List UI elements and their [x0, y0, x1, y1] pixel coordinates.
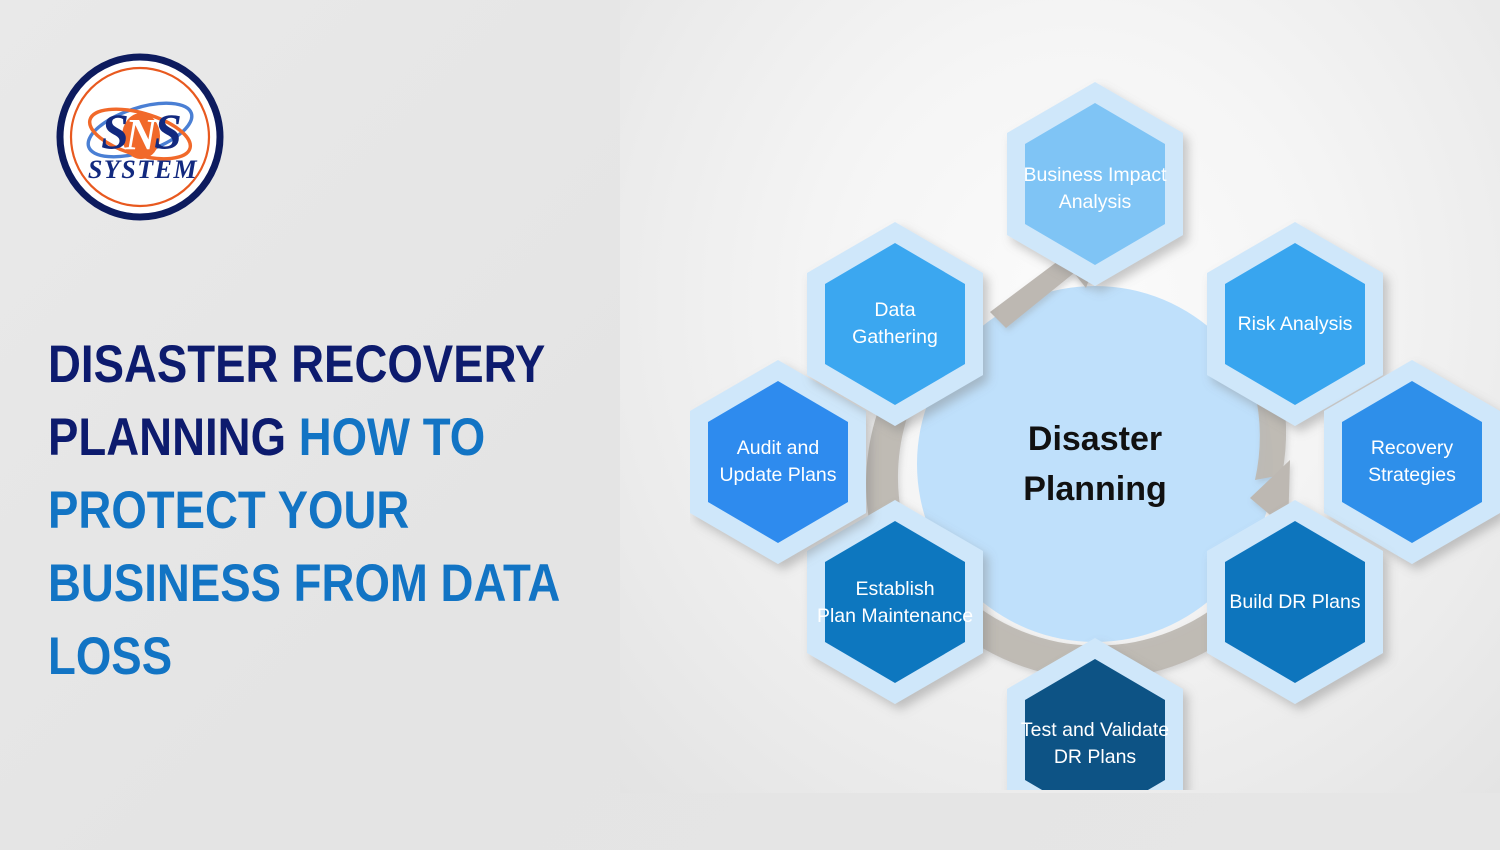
page-title: DISASTER RECOVERY PLANNING HOW TO PROTEC…: [48, 328, 581, 693]
hex-label-2-line-1: Recovery: [1371, 437, 1454, 459]
center-label-line-2: Planning: [1023, 470, 1167, 508]
hex-label-7-line-2: Gathering: [852, 326, 938, 348]
hex-label-7-line-1: Data: [874, 299, 915, 321]
hex-label-2-line-2: Strategies: [1368, 464, 1456, 486]
logo-svg: S N S SYSTEM: [55, 52, 225, 222]
hex-label-5-line-1: Establish: [855, 578, 934, 600]
cycle-diagram-svg: Business Impact Analysis Risk Analysis R…: [690, 60, 1500, 790]
hex-label-1-line-1: Risk Analysis: [1238, 313, 1353, 335]
hex-label-3-line-1: Build DR Plans: [1229, 591, 1360, 613]
logo-letter-s2: S: [154, 103, 182, 159]
disaster-planning-cycle-diagram: Business Impact Analysis Risk Analysis R…: [690, 60, 1500, 790]
hex-label-6-line-1: Audit and: [737, 437, 819, 459]
hex-node-business-impact-analysis[interactable]: Business Impact Analysis: [1007, 82, 1183, 286]
hex-label-4-line-2: DR Plans: [1054, 746, 1137, 768]
hex-label-6-line-2: Update Plans: [719, 464, 836, 486]
poster-canvas: S N S SYSTEM DISASTER RECOVERY PLANNING …: [0, 0, 1500, 850]
hex-label-0-line-2: Analysis: [1059, 191, 1132, 213]
logo-sub-text: SYSTEM: [88, 155, 198, 184]
center-label-line-1: Disaster: [1028, 420, 1162, 458]
hex-label-4-line-1: Test and Validate: [1021, 719, 1169, 741]
hex-label-0-line-1: Business Impact: [1023, 164, 1167, 186]
sns-system-logo: S N S SYSTEM: [55, 52, 225, 222]
hex-label-5-line-2: Plan Maintenance: [817, 605, 973, 627]
